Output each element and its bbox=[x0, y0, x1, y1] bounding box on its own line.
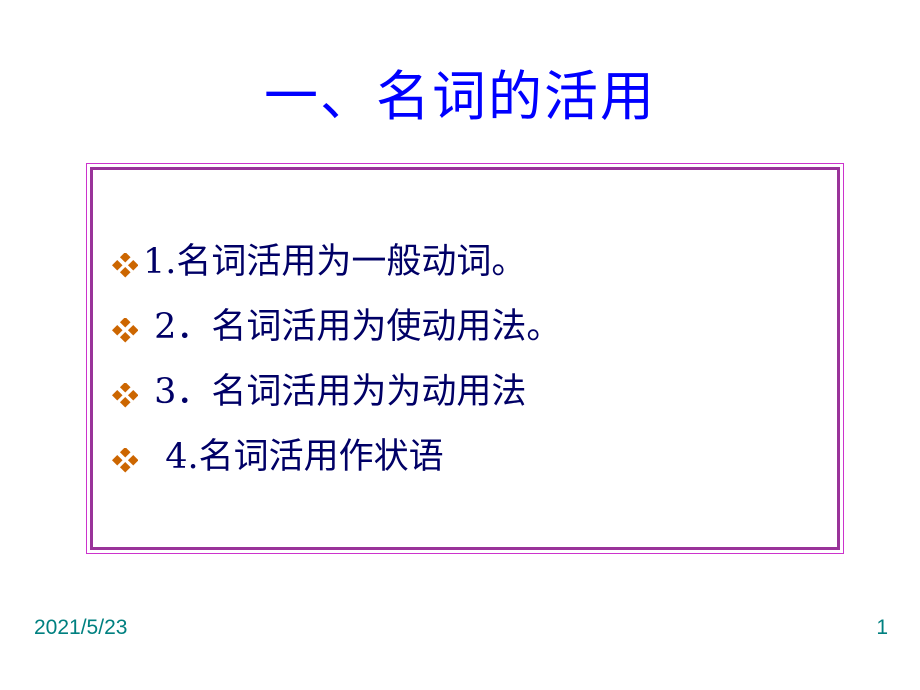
diamond-cluster-bullet-icon bbox=[109, 429, 143, 486]
content-frame: 1.名词活用为一般动词。 2．名词活用为使动用法 bbox=[90, 167, 840, 550]
footer-date: 2021/5/23 bbox=[34, 615, 127, 641]
list-item-label: 1.名词活用为一般动词。 bbox=[143, 234, 835, 291]
content-frame-inner: 1.名词活用为一般动词。 2．名词活用为使动用法 bbox=[93, 170, 837, 547]
diamond-cluster-bullet-icon bbox=[109, 364, 143, 421]
page-title: 一、名词的活用 bbox=[0, 62, 920, 132]
list-item-label: 3．名词活用为为动用法 bbox=[143, 364, 835, 421]
list-item[interactable]: 1.名词活用为一般动词。 bbox=[109, 234, 835, 291]
list-item-label: 2．名词活用为使动用法。 bbox=[143, 299, 835, 356]
diamond-cluster-bullet-icon bbox=[109, 299, 143, 356]
slide-canvas: 一、名词的活用 1.名词活用为一般动 bbox=[0, 0, 920, 690]
list-item-label: 4.名词活用作状语 bbox=[143, 429, 835, 486]
bullet-list: 1.名词活用为一般动词。 2．名词活用为使动用法 bbox=[109, 234, 835, 486]
footer-page-number: 1 bbox=[876, 615, 888, 641]
diamond-cluster-bullet-icon bbox=[109, 234, 143, 291]
